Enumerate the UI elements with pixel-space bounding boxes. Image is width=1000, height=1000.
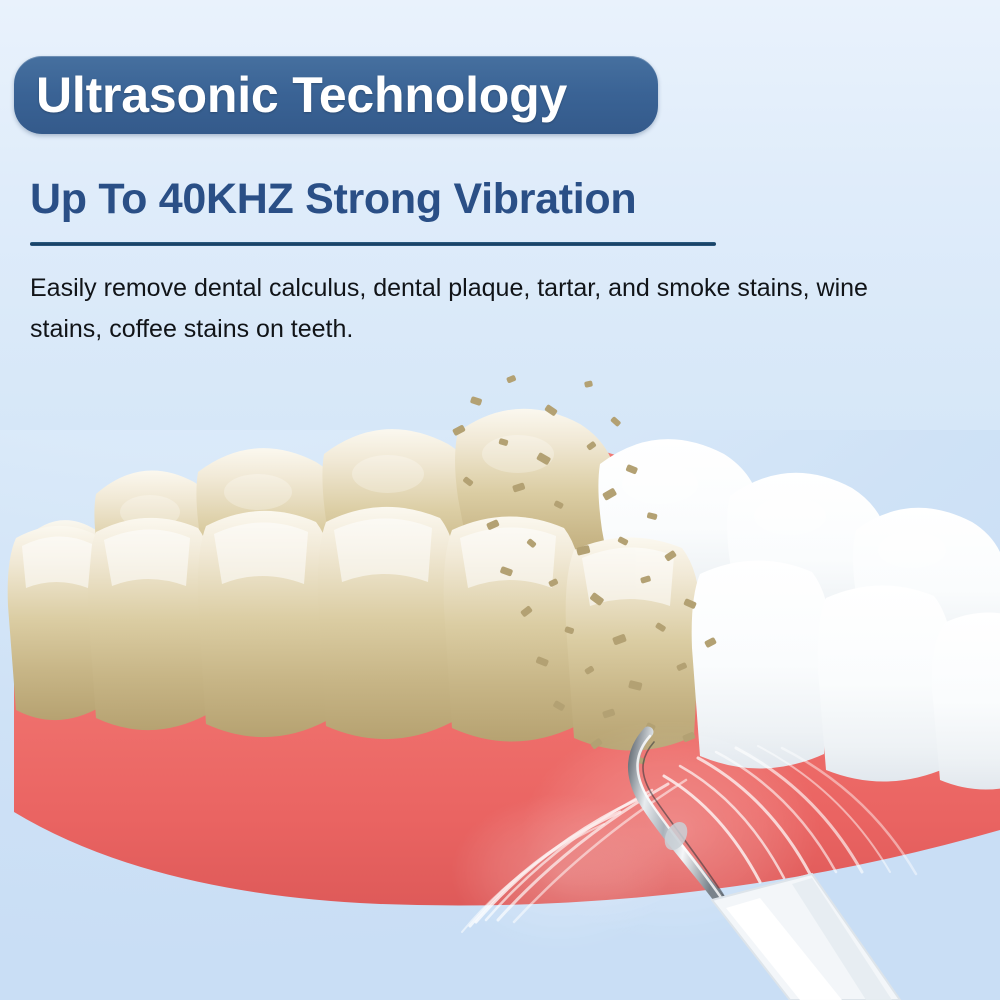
banner-title-pill: Ultrasonic Technology — [14, 56, 658, 134]
header-divider — [30, 242, 716, 246]
banner-title-text: Ultrasonic Technology — [36, 66, 567, 124]
scaler-handle — [712, 874, 900, 1000]
dental-illustration — [0, 360, 1000, 1000]
product-feature-graphic: Ultrasonic Technology Up To 40KHZ Strong… — [0, 0, 1000, 1000]
description-text: Easily remove dental calculus, dental pl… — [30, 268, 920, 350]
subtitle-text: Up To 40KHZ Strong Vibration — [30, 175, 750, 224]
